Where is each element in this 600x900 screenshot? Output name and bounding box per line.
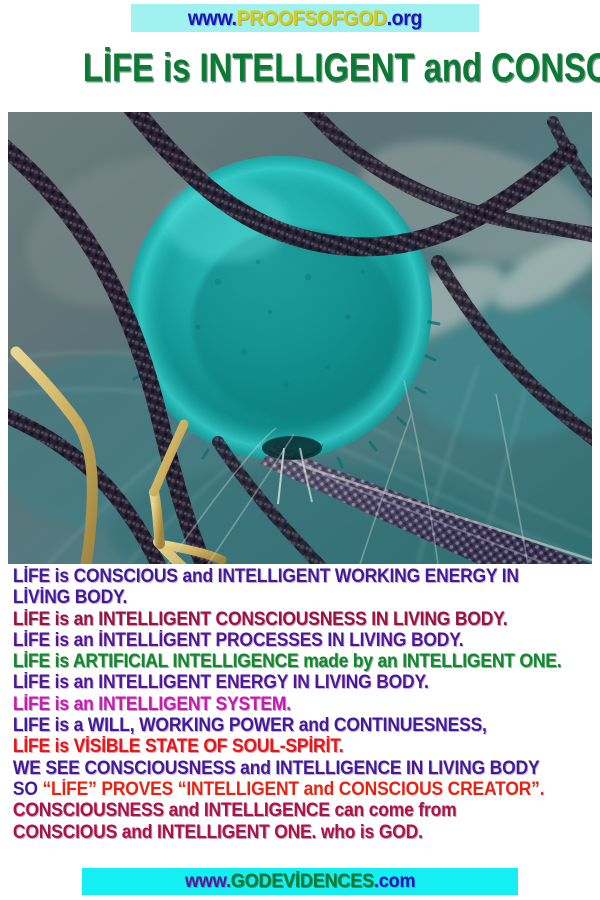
poster-root: www.PROOFSOFGOD.org LİFE is INTELLIGENT …: [0, 0, 600, 900]
statement-line: CONSCIOUS and INTELLIGENT ONE. who is GO…: [0, 822, 552, 843]
bottom-url-banner[interactable]: www.GODEVİDENCES.com: [82, 868, 518, 895]
statement-line: LİFE is CONSCIOUS and INTELLIGENT WORKIN…: [0, 566, 552, 587]
top-url-name: PROOFSOFGOD: [237, 7, 387, 30]
statement-line: WE SEE CONSCIOUSNESS and INTELLIGENCE IN…: [0, 758, 552, 779]
page-title-text: LİFE is INTELLIGENT and CONSCIOUS ENERGY: [83, 47, 600, 89]
statement-line: LİFE is an İNTELLİGENT PROCESSES IN LIVI…: [0, 630, 552, 651]
bottom-url-tld: .com: [374, 871, 415, 892]
cell-illustration-image: [8, 112, 592, 564]
statement-line-rest: “LİFE” PROVES “INTELLIGENT and CONSCIOUS…: [42, 779, 544, 800]
top-url-text: www.PROOFSOFGOD.org: [188, 8, 422, 29]
statement-line: LİFE is ARTIFICIAL INTELLIGENCE made by …: [0, 651, 552, 672]
statement-line: CONSCIOUSNESS and INTELLIGENCE can come …: [0, 800, 552, 821]
top-url-www: www.: [188, 7, 237, 30]
statement-line-lead: SO: [13, 779, 43, 800]
bottom-url-www: www.: [185, 871, 231, 892]
bottom-url-name: GODEVİDENCES: [231, 871, 374, 892]
statement-list: LİFE is CONSCIOUS and INTELLIGENT WORKIN…: [0, 566, 600, 861]
top-url-tld: .org: [387, 7, 422, 30]
statement-line: LİVİNG BODY.: [0, 587, 552, 608]
statement-line: LIFE is a WILL, WORKING POWER and CONTIN…: [0, 715, 552, 736]
top-url-banner[interactable]: www.PROOFSOFGOD.org: [131, 4, 479, 32]
statement-line: LİFE is an INTELLIGENT CONSCIOUSNESS IN …: [0, 609, 552, 630]
page-title: LİFE is INTELLIGENT and CONSCIOUS ENERGY: [0, 47, 600, 89]
cell-illustration-svg: [8, 112, 592, 564]
statement-line: SO “LİFE” PROVES “INTELLIGENT and CONSCI…: [0, 779, 552, 800]
statement-line: LİFE is VİSİBLE STATE OF SOUL-SPİRİT.: [0, 736, 552, 757]
statement-line: LİFE is an INTELLIGENT ENERGY IN LIVING …: [0, 672, 552, 693]
bottom-url-text: www.GODEVİDENCES.com: [185, 872, 415, 891]
statement-line: LİFE is an INTELLIGENT SYSTEM.: [0, 694, 552, 715]
